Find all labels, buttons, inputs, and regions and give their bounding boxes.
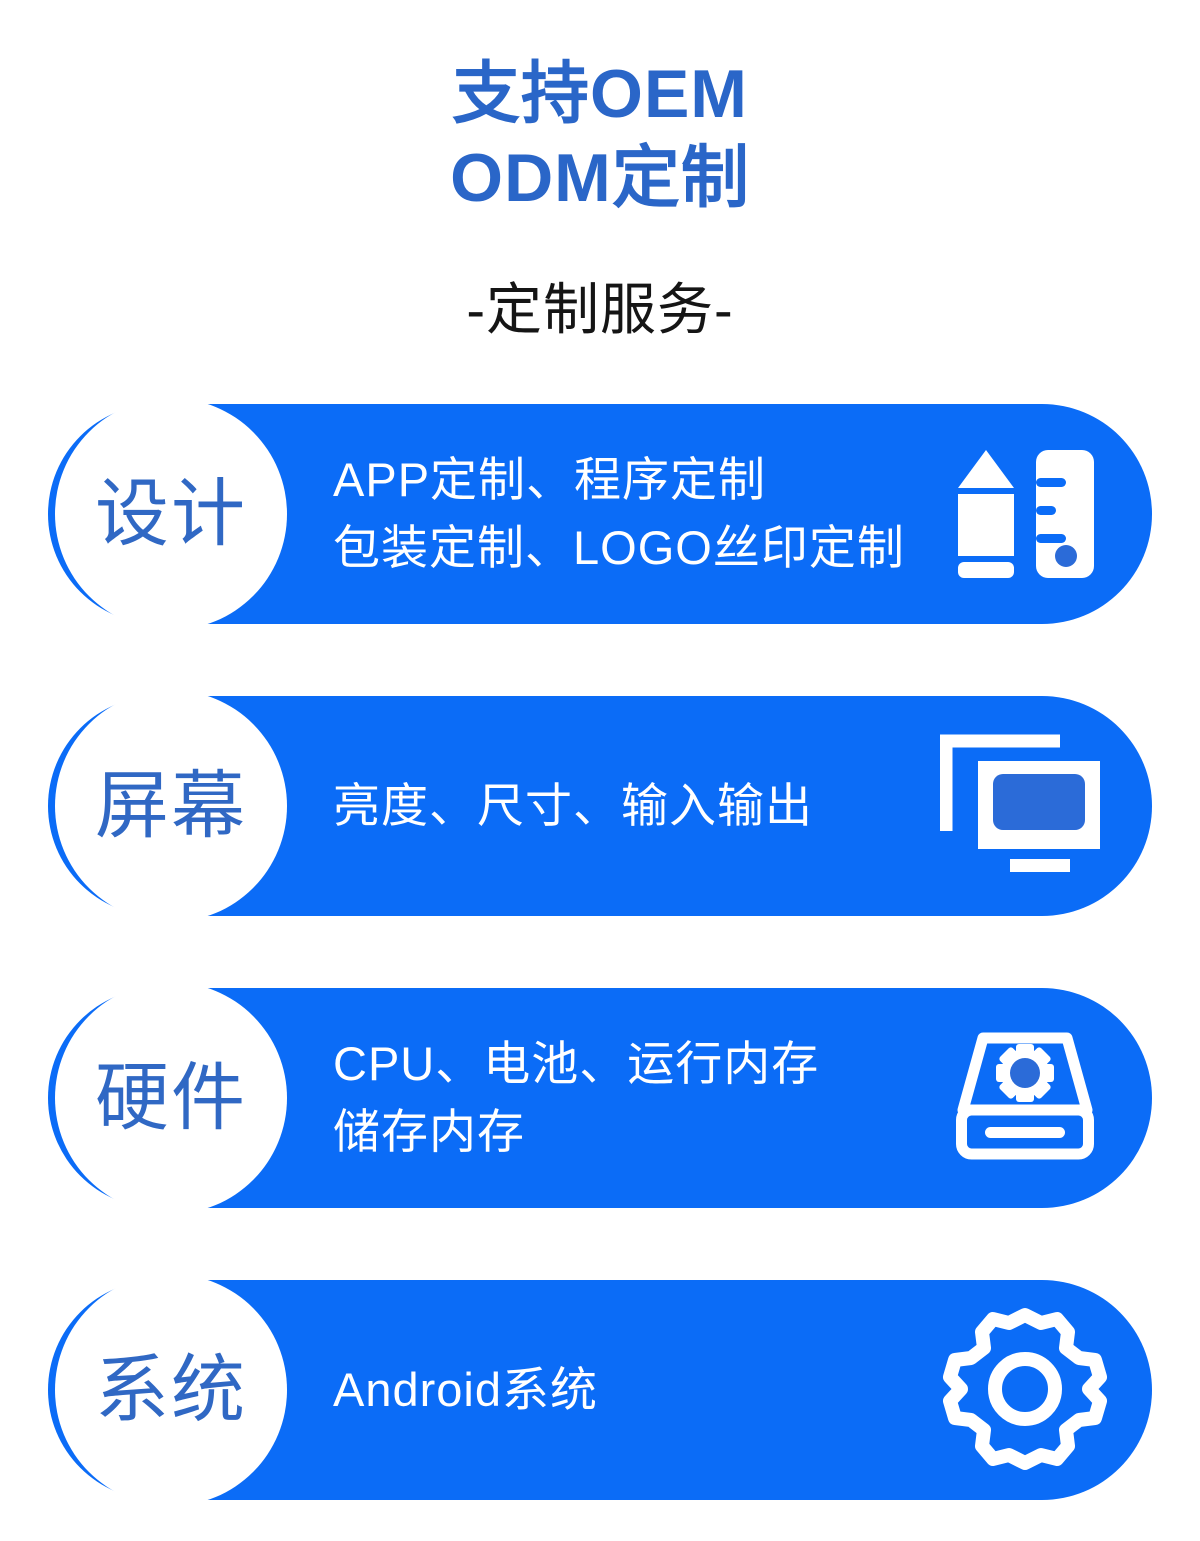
card-line-1: 亮度、尺寸、输入输出	[333, 772, 917, 840]
pencil-ruler-icon	[917, 444, 1132, 584]
card-line-1: CPU、电池、运行内存	[333, 1030, 917, 1098]
card-body-design: APP定制、程序定制 包装定制、LOGO丝印定制	[333, 446, 917, 582]
page-title-line-2: ODM定制	[0, 136, 1200, 220]
badge-label: 硬件	[95, 1058, 247, 1138]
service-card-system[interactable]: 系统 Android系统	[48, 1280, 1152, 1500]
card-line-2: 储存内存	[333, 1098, 917, 1166]
service-card-screen[interactable]: 屏幕 亮度、尺寸、输入输出	[48, 696, 1152, 916]
page-title: 支持OEM ODM定制	[0, 52, 1200, 220]
card-body-screen: 亮度、尺寸、输入输出	[333, 772, 917, 840]
badge-label: 设计	[95, 474, 247, 554]
badge-label: 屏幕	[95, 766, 247, 846]
badge-system: 系统	[55, 1274, 287, 1506]
service-card-hardware[interactable]: 硬件 CPU、电池、运行内存 储存内存	[48, 988, 1152, 1208]
badge-label: 系统	[95, 1350, 247, 1430]
monitor-icon	[917, 731, 1132, 881]
page-header: 支持OEM ODM定制 -定制服务-	[0, 0, 1200, 342]
badge-hardware: 硬件	[55, 982, 287, 1214]
badge-design: 设计	[55, 398, 287, 630]
hard-drive-gear-icon	[917, 1028, 1132, 1168]
page-title-line-1: 支持OEM	[0, 52, 1200, 136]
gear-icon	[917, 1305, 1132, 1475]
badge-screen: 屏幕	[55, 690, 287, 922]
card-line-1: APP定制、程序定制	[333, 446, 917, 514]
service-card-list: 设计 APP定制、程序定制 包装定制、LOGO丝印定制 屏幕	[0, 404, 1200, 1500]
service-card-design[interactable]: 设计 APP定制、程序定制 包装定制、LOGO丝印定制	[48, 404, 1152, 624]
page-subtitle: -定制服务-	[0, 278, 1200, 342]
card-line-1: Android系统	[333, 1356, 917, 1424]
card-line-2: 包装定制、LOGO丝印定制	[333, 514, 917, 582]
card-body-hardware: CPU、电池、运行内存 储存内存	[333, 1030, 917, 1166]
card-body-system: Android系统	[333, 1356, 917, 1424]
